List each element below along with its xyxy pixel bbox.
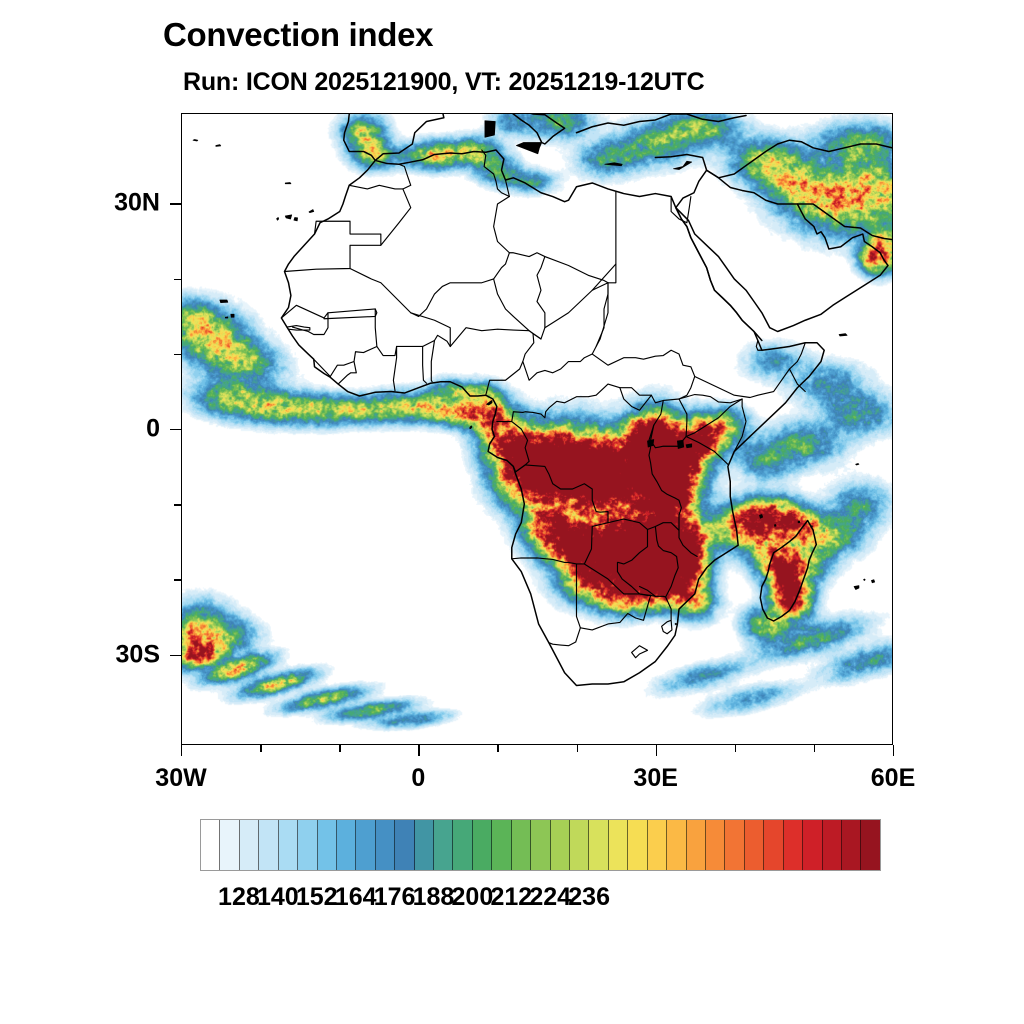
y-axis-label: 30N bbox=[114, 189, 160, 218]
x-tick-30 bbox=[656, 745, 657, 756]
colorbar-cell bbox=[764, 820, 783, 870]
colorbar-label: 140 bbox=[257, 883, 299, 912]
colorbar[interactable] bbox=[200, 819, 881, 871]
x-axis-label: 60E bbox=[871, 764, 915, 793]
map-plot-area[interactable] bbox=[181, 113, 893, 745]
colorbar-cell bbox=[415, 820, 434, 870]
page-title: Convection index bbox=[163, 16, 433, 54]
colorbar-cell bbox=[220, 820, 239, 870]
colorbar-cell bbox=[725, 820, 744, 870]
y-tick--30 bbox=[170, 655, 181, 656]
colorbar-cell bbox=[745, 820, 764, 870]
colorbar-cell bbox=[823, 820, 842, 870]
colorbar-cell bbox=[861, 820, 879, 870]
colorbar-cell bbox=[512, 820, 531, 870]
x-tick--20 bbox=[260, 745, 261, 752]
colorbar-label: 188 bbox=[413, 883, 455, 912]
colorbar-cell bbox=[318, 820, 337, 870]
coastline-and-border-overlay bbox=[182, 114, 892, 744]
colorbar-cell bbox=[473, 820, 492, 870]
colorbar-label: 176 bbox=[374, 883, 416, 912]
colorbar-cell bbox=[492, 820, 511, 870]
colorbar-cell bbox=[240, 820, 259, 870]
colorbar-cell bbox=[706, 820, 725, 870]
run-valid-time-subtitle: Run: ICON 2025121900, VT: 20251219-12UTC bbox=[183, 68, 704, 97]
colorbar-cell bbox=[376, 820, 395, 870]
colorbar-cell bbox=[667, 820, 686, 870]
y-axis-label: 30S bbox=[116, 640, 160, 669]
y-tick-0 bbox=[170, 429, 181, 430]
x-tick-40 bbox=[735, 745, 736, 752]
y-tick-20 bbox=[174, 279, 181, 280]
x-tick-0 bbox=[418, 745, 419, 756]
x-axis-label: 0 bbox=[411, 764, 425, 793]
colorbar-cell bbox=[589, 820, 608, 870]
x-tick-60 bbox=[893, 745, 894, 756]
colorbar-label: 164 bbox=[335, 883, 377, 912]
colorbar-label: 200 bbox=[452, 883, 494, 912]
colorbar-label: 152 bbox=[296, 883, 338, 912]
colorbar-cell bbox=[609, 820, 628, 870]
colorbar-cell bbox=[687, 820, 706, 870]
y-tick-10 bbox=[174, 354, 181, 355]
colorbar-cell bbox=[298, 820, 317, 870]
colorbar-cell bbox=[648, 820, 667, 870]
colorbar-cell bbox=[803, 820, 822, 870]
colorbar-cell bbox=[337, 820, 356, 870]
colorbar-cell bbox=[453, 820, 472, 870]
colorbar-cell bbox=[842, 820, 861, 870]
x-tick-10 bbox=[497, 745, 498, 752]
x-tick-20 bbox=[577, 745, 578, 752]
colorbar-cell bbox=[395, 820, 414, 870]
colorbar-cell bbox=[356, 820, 375, 870]
colorbar-label: 236 bbox=[568, 883, 610, 912]
x-tick--10 bbox=[339, 745, 340, 752]
colorbar-label: 212 bbox=[490, 883, 532, 912]
x-axis-label: 30W bbox=[155, 764, 206, 793]
colorbar-cell bbox=[434, 820, 453, 870]
colorbar-cell bbox=[201, 820, 220, 870]
colorbar-cell bbox=[279, 820, 298, 870]
colorbar-cell bbox=[784, 820, 803, 870]
colorbar-label: 128 bbox=[218, 883, 260, 912]
colorbar-cell bbox=[531, 820, 550, 870]
colorbar-label: 224 bbox=[529, 883, 571, 912]
x-axis-label: 30E bbox=[633, 764, 677, 793]
x-tick-50 bbox=[814, 745, 815, 752]
colorbar-cell bbox=[551, 820, 570, 870]
colorbar-cell bbox=[259, 820, 278, 870]
y-tick--20 bbox=[174, 579, 181, 580]
x-tick--30 bbox=[181, 745, 182, 756]
y-axis-label: 0 bbox=[146, 415, 160, 444]
colorbar-cell bbox=[570, 820, 589, 870]
y-tick-30 bbox=[170, 203, 181, 204]
y-tick--10 bbox=[174, 504, 181, 505]
colorbar-cell bbox=[628, 820, 647, 870]
